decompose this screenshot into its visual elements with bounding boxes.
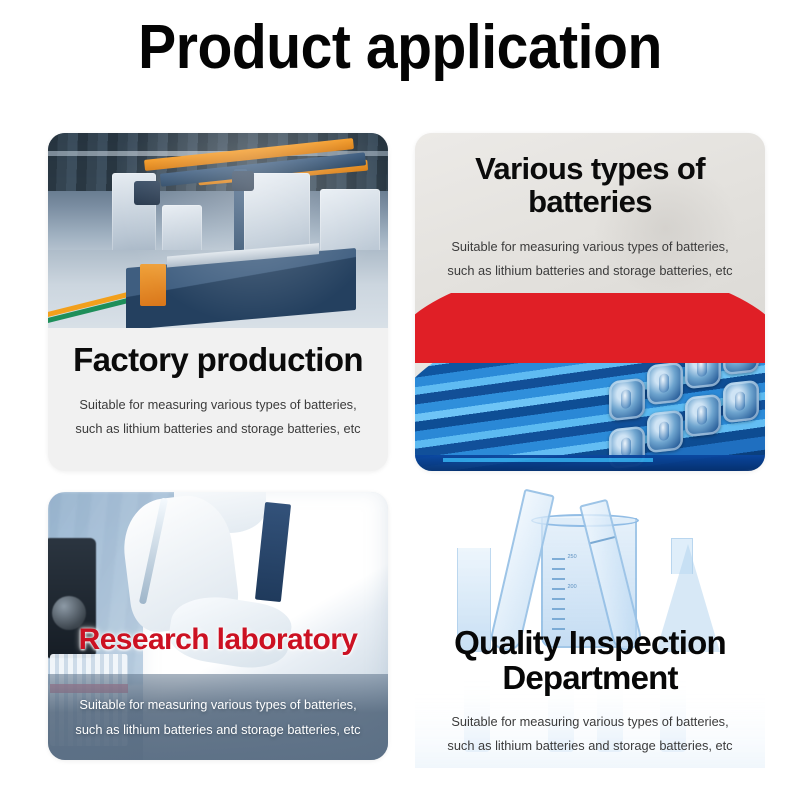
card-description: Suitable for measuring various types of … bbox=[420, 710, 760, 759]
battery-cap bbox=[647, 361, 683, 405]
factory-scene bbox=[48, 133, 388, 328]
product-application-page: Product application Fac bbox=[0, 0, 800, 800]
battery-cap bbox=[647, 409, 683, 453]
light-glow bbox=[48, 133, 388, 328]
battery-cells-photo bbox=[415, 293, 765, 471]
card-quality-inspection-department[interactable]: 250 200 Quality Inspection Department Su… bbox=[415, 488, 765, 778]
battery-cap bbox=[609, 377, 645, 421]
card-heading: Research laboratory bbox=[48, 624, 388, 656]
card-research-laboratory[interactable]: Research laboratory Suitable for measuri… bbox=[48, 492, 388, 760]
battery-cap bbox=[685, 393, 721, 437]
card-heading: Factory production bbox=[48, 343, 388, 378]
battery-tray-base bbox=[415, 455, 765, 471]
graduation-label: 250 bbox=[568, 554, 577, 560]
factory-text-panel: Factory production Suitable for measurin… bbox=[48, 329, 388, 442]
card-various-types-of-batteries[interactable]: Various types of batteries Suitable for … bbox=[415, 133, 765, 471]
card-description: Suitable for measuring various types of … bbox=[53, 693, 383, 742]
card-heading: Quality Inspection Department bbox=[415, 626, 765, 696]
card-heading: Various types of batteries bbox=[415, 153, 765, 219]
graduation-label: 200 bbox=[568, 584, 577, 590]
factory-production-photo bbox=[48, 133, 388, 328]
card-description: Suitable for measuring various types of … bbox=[420, 235, 760, 284]
battery-cap bbox=[723, 379, 759, 423]
card-factory-production[interactable]: Factory production Suitable for measurin… bbox=[48, 133, 388, 471]
card-description: Suitable for measuring various types of … bbox=[53, 393, 383, 442]
page-title: Product application bbox=[32, 14, 768, 82]
red-curved-divider bbox=[415, 293, 765, 363]
